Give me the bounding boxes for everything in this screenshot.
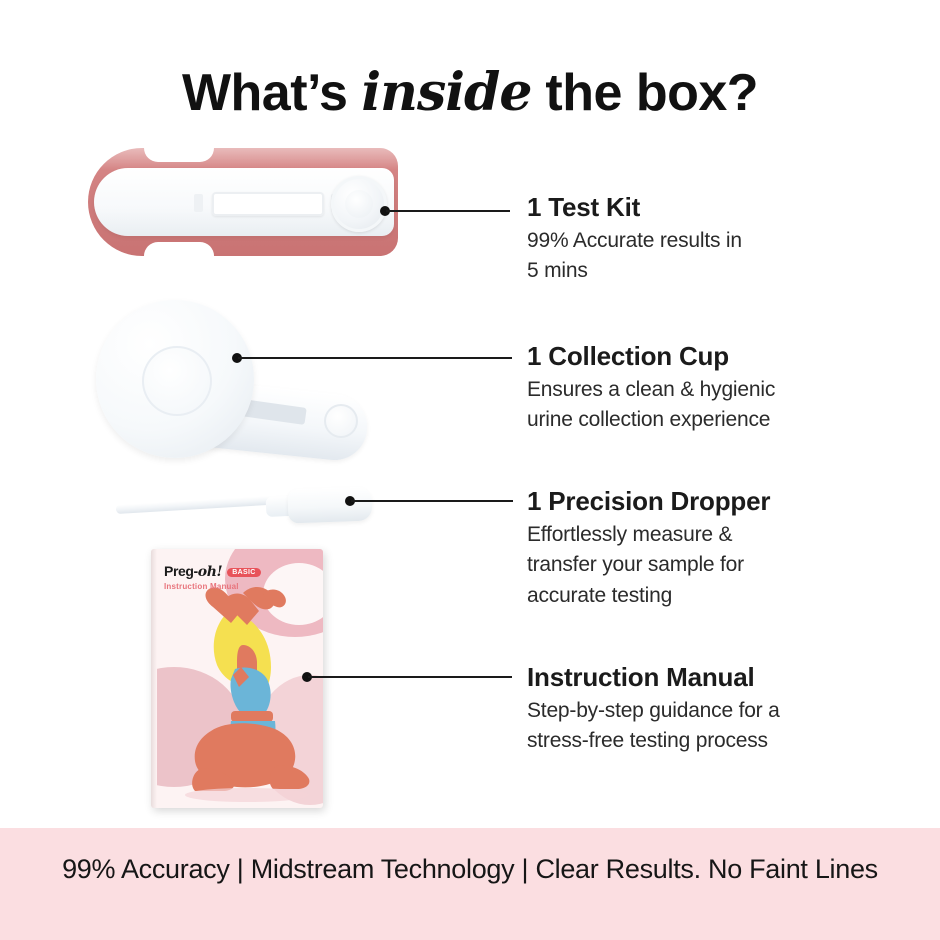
connector-line [308, 676, 512, 678]
test-kit-result-window [212, 192, 324, 216]
item-description: Step-by-step guidance for a stress-free … [527, 696, 780, 757]
test-kit-notch-bottom [144, 242, 214, 256]
connector-test-kit [380, 205, 510, 217]
item-text-collection-cup: 1 Collection Cup Ensures a clean & hygie… [527, 341, 775, 436]
item-heading: 1 Test Kit [527, 192, 742, 223]
title-part-2: the box? [531, 64, 758, 122]
connector-collection-cup [232, 352, 512, 364]
footer-tagline: 99% Accuracy | Midstream Technology | Cl… [0, 854, 940, 885]
footer-banner: 99% Accuracy | Midstream Technology | Cl… [0, 828, 940, 940]
cup-dish-ring [142, 346, 212, 416]
brand-name-italic: oh! [198, 564, 222, 580]
item-heading: Instruction Manual [527, 662, 780, 693]
item-description: Ensures a clean & hygienic urine collect… [527, 375, 775, 436]
product-image-test-kit [88, 148, 398, 256]
item-heading: 1 Precision Dropper [527, 486, 770, 517]
item-description: Effortlessly measure & transfer your sam… [527, 520, 770, 611]
item-text-instruction-manual: Instruction Manual Step-by-step guidance… [527, 662, 780, 757]
brand-name-main: Preg- [164, 563, 198, 579]
product-image-instruction-manual: Preg-oh!BASIC Instruction Manual [151, 549, 323, 808]
booklet-brand-logo: Preg-oh!BASIC [164, 563, 261, 580]
cup-handle-hole [324, 404, 358, 438]
test-kit-control-mark [194, 194, 203, 212]
title-italic-word: inside [361, 62, 531, 123]
connector-precision-dropper [345, 495, 513, 507]
connector-line [351, 500, 513, 502]
brand-tier-badge: BASIC [227, 568, 260, 577]
item-text-precision-dropper: 1 Precision Dropper Effortlessly measure… [527, 486, 770, 611]
connector-line [238, 357, 512, 359]
item-text-test-kit: 1 Test Kit 99% Accurate results in 5 min… [527, 192, 742, 287]
product-image-collection-cup [96, 298, 386, 460]
item-description: 99% Accurate results in 5 mins [527, 226, 742, 287]
connector-line [386, 210, 510, 212]
test-kit-sample-well-inner [345, 190, 373, 218]
booklet-subtitle: Instruction Manual [164, 582, 239, 591]
item-heading: 1 Collection Cup [527, 341, 775, 372]
title-part-1: What’s [182, 64, 361, 122]
page-title: What’s inside the box? [0, 62, 940, 123]
product-image-precision-dropper [116, 482, 376, 530]
test-kit-notch-top [144, 148, 214, 162]
test-kit-highlight [88, 148, 398, 170]
connector-instruction-manual [302, 671, 512, 683]
